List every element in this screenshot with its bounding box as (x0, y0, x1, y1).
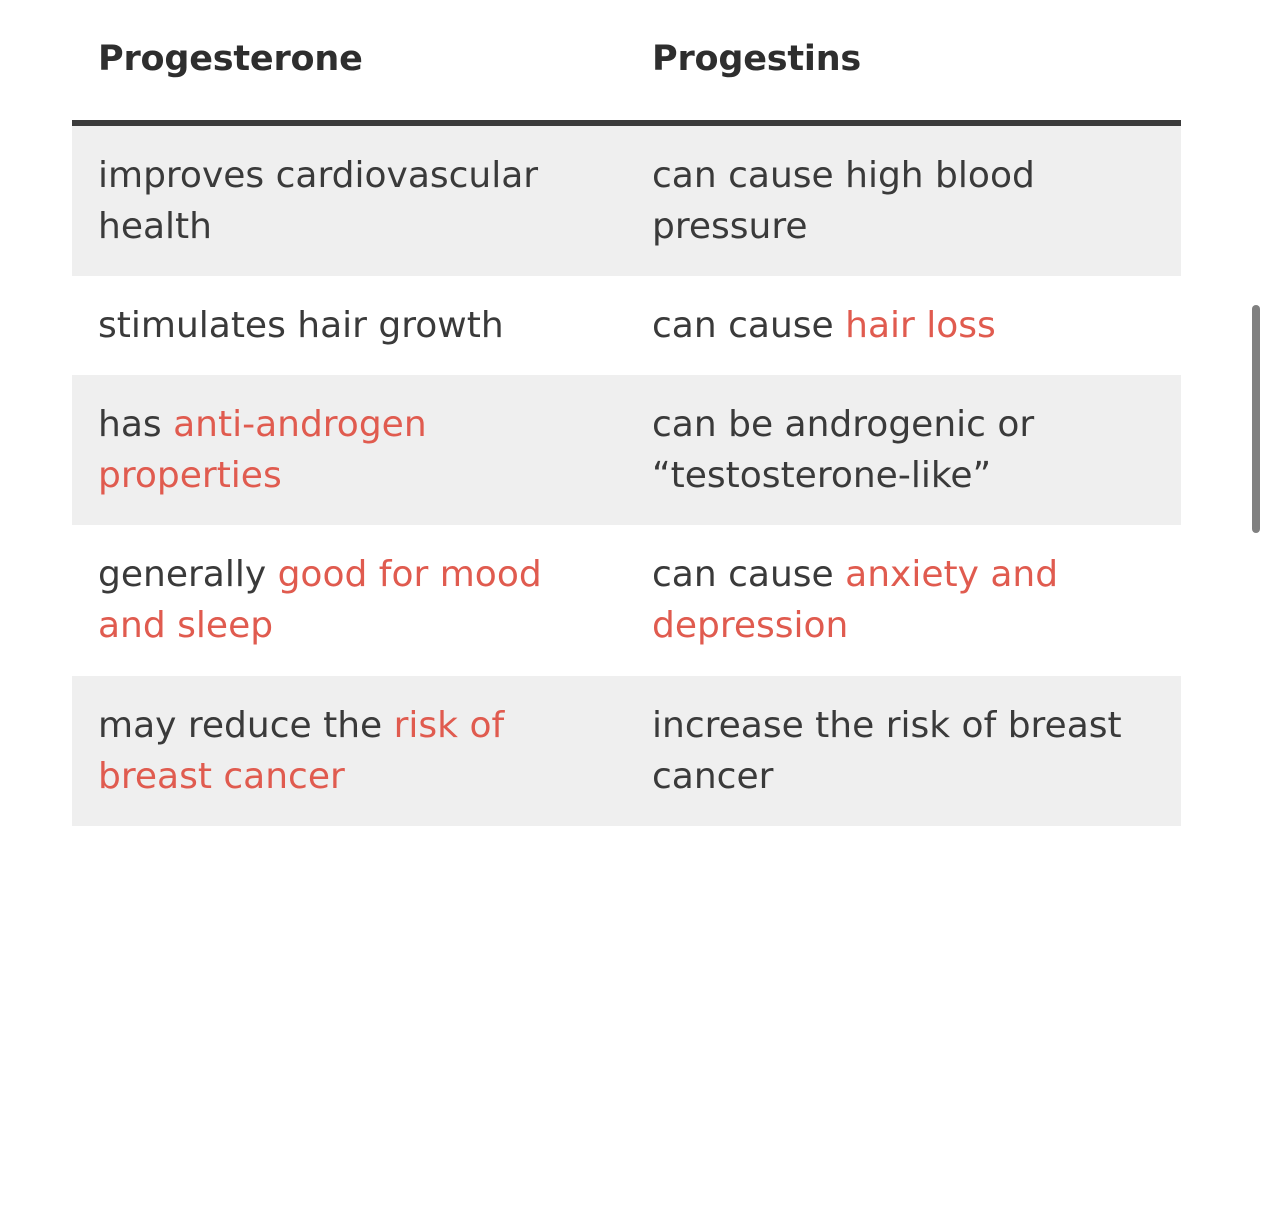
cell-progesterone: may reduce the risk of breast cancer (72, 676, 626, 826)
cell-text-plain: increase the risk of breast cancer (652, 705, 1122, 797)
cell-text-highlight: hair loss (845, 305, 996, 346)
column-header-progesterone: Progesterone (72, 0, 626, 123)
table-body: improves cardiovascular health can cause… (72, 123, 1181, 826)
cell-progestins: can cause high blood pressure (626, 123, 1181, 276)
cell-text-plain: stimulates hair growth (98, 305, 504, 346)
progesterone-vs-progestins-table: Progesterone Progestins improves cardiov… (72, 0, 1181, 826)
cell-progesterone: improves cardiovascular health (72, 123, 626, 276)
vertical-scrollbar[interactable] (1252, 0, 1260, 1226)
table-row: stimulates hair growth can cause hair lo… (72, 276, 1181, 375)
table-row: may reduce the risk of breast cancer inc… (72, 676, 1181, 826)
table-row: has anti-androgen properties can be andr… (72, 375, 1181, 525)
cell-progesterone: has anti-androgen properties (72, 375, 626, 525)
scrollbar-thumb[interactable] (1252, 305, 1260, 533)
cell-text-plain: has (98, 404, 173, 445)
cell-text-plain: can cause high blood pressure (652, 155, 1035, 247)
cell-text-plain: generally (98, 554, 278, 595)
cell-progesterone: generally good for mood and sleep (72, 525, 626, 675)
cell-text-plain: can be androgenic or “testosterone-like” (652, 404, 1034, 496)
cell-progestins: can cause hair loss (626, 276, 1181, 375)
column-header-progestins: Progestins (626, 0, 1181, 123)
page-root: Progesterone Progestins improves cardiov… (0, 0, 1272, 1226)
cell-progestins: can be androgenic or “testosterone-like” (626, 375, 1181, 525)
cell-text-plain: can cause (652, 305, 845, 346)
table-row: improves cardiovascular health can cause… (72, 123, 1181, 276)
cell-text-plain: can cause (652, 554, 845, 595)
cell-text-plain: may reduce the (98, 705, 394, 746)
cell-progestins: can cause anxiety and depression (626, 525, 1181, 675)
table-row: generally good for mood and sleep can ca… (72, 525, 1181, 675)
comparison-table-wrapper: Progesterone Progestins improves cardiov… (72, 0, 1181, 826)
cell-progesterone: stimulates hair growth (72, 276, 626, 375)
table-header: Progesterone Progestins (72, 0, 1181, 123)
table-header-row: Progesterone Progestins (72, 0, 1181, 123)
cell-text-plain: improves cardiovascular health (98, 155, 538, 247)
cell-progestins: increase the risk of breast cancer (626, 676, 1181, 826)
